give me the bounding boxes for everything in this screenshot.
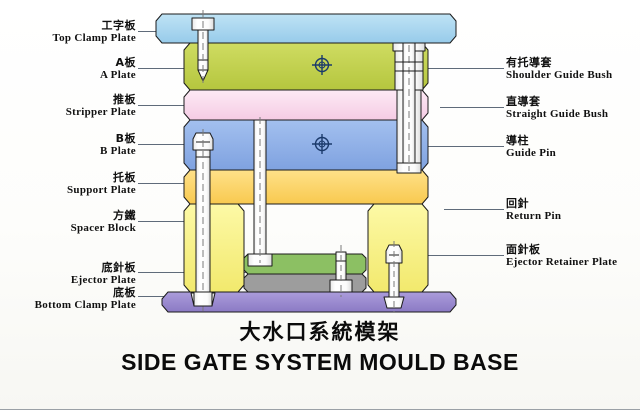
plate-stripper: [184, 90, 428, 120]
label-spacer-block: 方鐵 Spacer Block: [8, 210, 136, 234]
label-straight-guide-bush-en: Straight Guide Bush: [506, 109, 608, 121]
label-stripper-plate: 推板 Stripper Plate: [8, 94, 136, 118]
label-return-pin-en: Return Pin: [506, 211, 561, 223]
label-top-clamp-plate: 工字板 Top Clamp Plate: [8, 20, 136, 44]
mould-base-cross-section: [150, 5, 490, 315]
label-support-plate-en: Support Plate: [8, 185, 136, 197]
label-spacer-block-en: Spacer Block: [8, 223, 136, 235]
label-bottom-clamp-plate-en: Bottom Clamp Plate: [2, 300, 136, 312]
label-ejector-plate: 底針板 Ejector Plate: [8, 262, 136, 286]
label-ejector-retainer-plate: 面針板 Ejector Retainer Plate: [506, 244, 617, 268]
label-support-plate: 托板 Support Plate: [8, 172, 136, 196]
spacer-block-left: [184, 204, 244, 292]
label-return-pin-cn: 回針: [506, 198, 561, 210]
label-shoulder-guide-bush: 有托導套 Shoulder Guide Bush: [506, 57, 612, 81]
label-guide-pin: 導柱 Guide Pin: [506, 135, 556, 159]
label-stripper-plate-cn: 推板: [8, 94, 136, 106]
label-a-plate-en: A Plate: [8, 70, 136, 82]
poster-canvas: 工字板 Top Clamp Plate A板 A Plate 推板 Stripp…: [0, 0, 640, 410]
label-b-plate-cn: B板: [8, 133, 136, 145]
label-b-plate: B板 B Plate: [8, 133, 136, 157]
plate-b: [184, 120, 428, 170]
label-guide-pin-cn: 導柱: [506, 135, 556, 147]
label-straight-guide-bush-cn: 直導套: [506, 96, 608, 108]
label-ejector-plate-cn: 底針板: [8, 262, 136, 274]
label-ejector-plate-en: Ejector Plate: [8, 275, 136, 287]
label-a-plate-cn: A板: [8, 57, 136, 69]
label-support-plate-cn: 托板: [8, 172, 136, 184]
label-shoulder-guide-bush-en: Shoulder Guide Bush: [506, 70, 612, 82]
poster-title-cn: 大水口系統模架: [0, 316, 640, 346]
poster-title-en: SIDE GATE SYSTEM MOULD BASE: [0, 349, 640, 376]
label-b-plate-en: B Plate: [8, 146, 136, 158]
label-stripper-plate-en: Stripper Plate: [8, 107, 136, 119]
plate-support: [184, 170, 428, 204]
label-bottom-clamp-plate: 底板 Bottom Clamp Plate: [2, 287, 136, 311]
label-top-clamp-plate-en: Top Clamp Plate: [8, 33, 136, 45]
label-guide-pin-en: Guide Pin: [506, 148, 556, 160]
label-straight-guide-bush: 直導套 Straight Guide Bush: [506, 96, 608, 120]
label-shoulder-guide-bush-cn: 有托導套: [506, 57, 612, 69]
label-return-pin: 回針 Return Pin: [506, 198, 561, 222]
plate-a: [184, 43, 428, 90]
label-spacer-block-cn: 方鐵: [8, 210, 136, 222]
label-bottom-clamp-plate-cn: 底板: [2, 287, 136, 299]
label-ejector-retainer-plate-en: Ejector Retainer Plate: [506, 257, 617, 269]
label-ejector-retainer-plate-cn: 面針板: [506, 244, 617, 256]
label-a-plate: A板 A Plate: [8, 57, 136, 81]
bottom-clamp-screw-head: [194, 292, 212, 306]
poster-title: 大水口系統模架 SIDE GATE SYSTEM MOULD BASE: [0, 316, 640, 376]
label-top-clamp-plate-cn: 工字板: [8, 20, 136, 32]
